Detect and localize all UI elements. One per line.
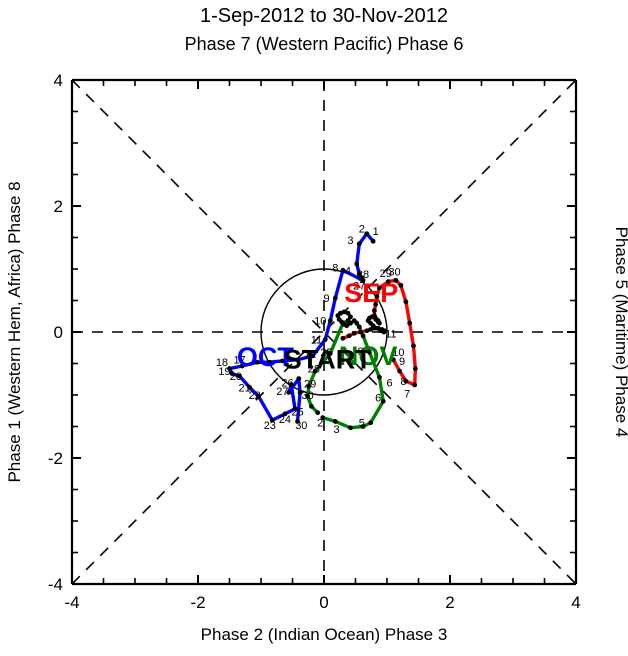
day-label-oct: 10 <box>314 316 326 328</box>
y-tick-label: -4 <box>48 575 63 594</box>
day-marker <box>404 299 409 304</box>
day-marker <box>296 376 301 381</box>
day-marker <box>309 404 314 409</box>
page-title: 1-Sep-2012 to 30-Nov-2012 <box>200 5 448 27</box>
day-label-nov: 5 <box>359 418 365 430</box>
day-label-oct: 9 <box>323 293 329 305</box>
day-marker <box>333 296 338 301</box>
day-label-sep: 11 <box>385 328 396 340</box>
day-label-oct: 1 <box>373 226 379 238</box>
day-marker <box>398 283 403 288</box>
top-axis-label: Phase 7 (Western Pacific) Phase 6 <box>185 34 464 54</box>
day-label-oct: 22 <box>249 390 261 402</box>
day-label-oct: 2 <box>359 224 365 236</box>
day-label-nov: 30 <box>301 390 313 402</box>
day-marker <box>341 321 346 326</box>
day-label-sep: 7 <box>404 389 410 401</box>
left-axis-label: Phase 1 (Western Hem, Africa) Phase 8 <box>5 181 24 482</box>
day-marker <box>411 343 416 348</box>
day-marker <box>381 399 386 404</box>
bottom-axis-label: Phase 2 (Indian Ocean) Phase 3 <box>201 625 448 644</box>
day-label-oct: 27 <box>276 386 288 398</box>
day-marker <box>352 331 357 336</box>
day-label-oct: 3 <box>347 235 353 247</box>
y-tick-label: 0 <box>54 323 63 342</box>
day-marker <box>377 375 382 380</box>
day-marker <box>364 231 369 236</box>
day-marker <box>323 337 328 342</box>
day-marker <box>357 241 362 246</box>
day-marker <box>372 308 377 313</box>
day-marker <box>328 318 333 323</box>
day-label-nov: 29 <box>304 379 316 391</box>
day-marker <box>347 333 352 338</box>
day-label-sep: 9 <box>399 356 405 368</box>
day-label-nov: 2 <box>317 418 323 430</box>
x-tick-label: -2 <box>190 593 205 612</box>
day-marker <box>413 366 418 371</box>
x-tick-label: 0 <box>319 593 328 612</box>
day-label-oct: 24 <box>279 414 291 426</box>
day-marker <box>397 369 402 374</box>
month-label-start: START <box>284 345 372 375</box>
y-tick-label: 4 <box>54 71 63 90</box>
x-tick-label: -4 <box>64 593 79 612</box>
day-label-sep: 30 <box>388 267 400 279</box>
day-marker <box>412 383 417 388</box>
day-label-nov: 6 <box>375 393 381 405</box>
day-marker <box>348 425 353 430</box>
day-label-oct: 30 <box>295 420 307 432</box>
day-label-nov: 3 <box>334 424 340 436</box>
y-tick-label: 2 <box>54 197 63 216</box>
day-label-oct: 8 <box>332 263 338 275</box>
figure-background <box>0 0 628 656</box>
day-marker <box>371 239 376 244</box>
day-label-sep: 6 <box>386 377 392 389</box>
day-marker <box>368 420 373 425</box>
day-marker <box>372 313 377 318</box>
day-label-oct: 20 <box>230 371 242 383</box>
day-marker <box>315 410 320 415</box>
day-marker <box>361 333 366 338</box>
day-label-oct: 25 <box>291 406 303 418</box>
x-tick-label: 4 <box>571 593 580 612</box>
day-marker <box>407 321 412 326</box>
y-tick-label: -2 <box>48 449 63 468</box>
x-tick-label: 2 <box>445 593 454 612</box>
day-marker <box>354 262 359 267</box>
day-marker <box>346 318 351 323</box>
right-axis-label: Phase 5 (Maritime) Phase 4 <box>612 227 628 438</box>
day-label-sep: 8 <box>400 376 406 388</box>
day-label-oct: 4 <box>345 265 351 277</box>
plot-canvas: 1-Sep-2012 to 30-Nov-2012 Phase 7 (Weste… <box>0 0 628 656</box>
month-label-sep: SEP <box>344 278 398 308</box>
day-label-oct: 23 <box>264 420 276 432</box>
mjo-phase-diagram: 1-Sep-2012 to 30-Nov-2012 Phase 7 (Weste… <box>0 0 628 656</box>
